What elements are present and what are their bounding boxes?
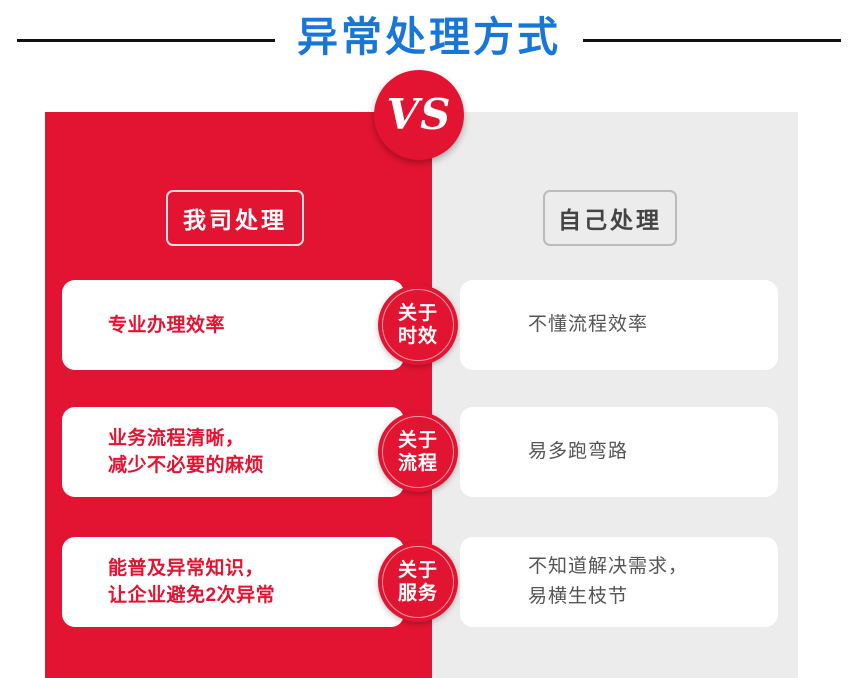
self-handling-card: 易多跑弯路 [460, 407, 778, 497]
topic-badge-line2: 流程 [398, 452, 438, 475]
our-company-card-line2: 让企业避免2次异常 [108, 582, 275, 609]
column-header-our-company: 我司处理 [166, 190, 304, 246]
our-company-card-line1: 业务流程清晰， [108, 428, 245, 449]
comparison-row: 能普及异常知识， 让企业避免2次异常 关于 服务 不知道解决需求， 易横生枝节 [0, 537, 858, 627]
our-company-card-line2: 减少不必要的麻烦 [108, 452, 264, 479]
self-handling-card-line2: 易横生枝节 [528, 582, 688, 612]
our-company-card-text: 能普及异常知识， 让企业避免2次异常 [108, 555, 275, 609]
vs-badge: VS [374, 70, 464, 160]
comparison-row: 业务流程清晰， 减少不必要的麻烦 关于 流程 易多跑弯路 [0, 407, 858, 497]
comparison-row: 专业办理效率 关于 时效 不懂流程效率 [0, 280, 858, 370]
topic-badge-line1: 关于 [398, 429, 438, 452]
column-header-self-handling: 自己处理 [543, 190, 677, 246]
title-rule-right [583, 39, 841, 42]
topic-badge-line2: 时效 [398, 325, 438, 348]
our-company-card-line1: 能普及异常知识， [108, 558, 264, 579]
self-handling-card-line1: 易多跑弯路 [528, 441, 628, 462]
our-company-card-line1: 专业办理效率 [108, 315, 225, 336]
topic-badge-service: 关于 服务 [378, 542, 458, 622]
self-handling-card: 不知道解决需求， 易横生枝节 [460, 537, 778, 627]
topic-badge-timeliness: 关于 时效 [378, 285, 458, 365]
our-company-card: 能普及异常知识， 让企业避免2次异常 [62, 537, 404, 627]
topic-badge-line2: 服务 [398, 582, 438, 605]
vs-badge-label: VS [387, 94, 452, 136]
title-rule-left [17, 39, 275, 42]
our-company-card-text: 专业办理效率 [108, 312, 225, 339]
self-handling-card-text: 不知道解决需求， 易横生枝节 [528, 552, 688, 612]
topic-badge-process: 关于 流程 [378, 412, 458, 492]
self-handling-card-text: 不懂流程效率 [528, 310, 648, 340]
self-handling-card-line1: 不懂流程效率 [528, 314, 648, 335]
page-title-row: 异常处理方式 [0, 0, 858, 80]
self-handling-card-line1: 不知道解决需求， [528, 556, 688, 577]
self-handling-card-text: 易多跑弯路 [528, 437, 628, 467]
column-header-self-handling-label: 自己处理 [558, 201, 662, 235]
page-title: 异常处理方式 [297, 17, 561, 64]
our-company-card-text: 业务流程清晰， 减少不必要的麻烦 [108, 425, 264, 479]
self-handling-card: 不懂流程效率 [460, 280, 778, 370]
our-company-card: 专业办理效率 [62, 280, 404, 370]
our-company-card: 业务流程清晰， 减少不必要的麻烦 [62, 407, 404, 497]
column-header-our-company-label: 我司处理 [183, 201, 287, 235]
topic-badge-line1: 关于 [398, 302, 438, 325]
topic-badge-line1: 关于 [398, 559, 438, 582]
